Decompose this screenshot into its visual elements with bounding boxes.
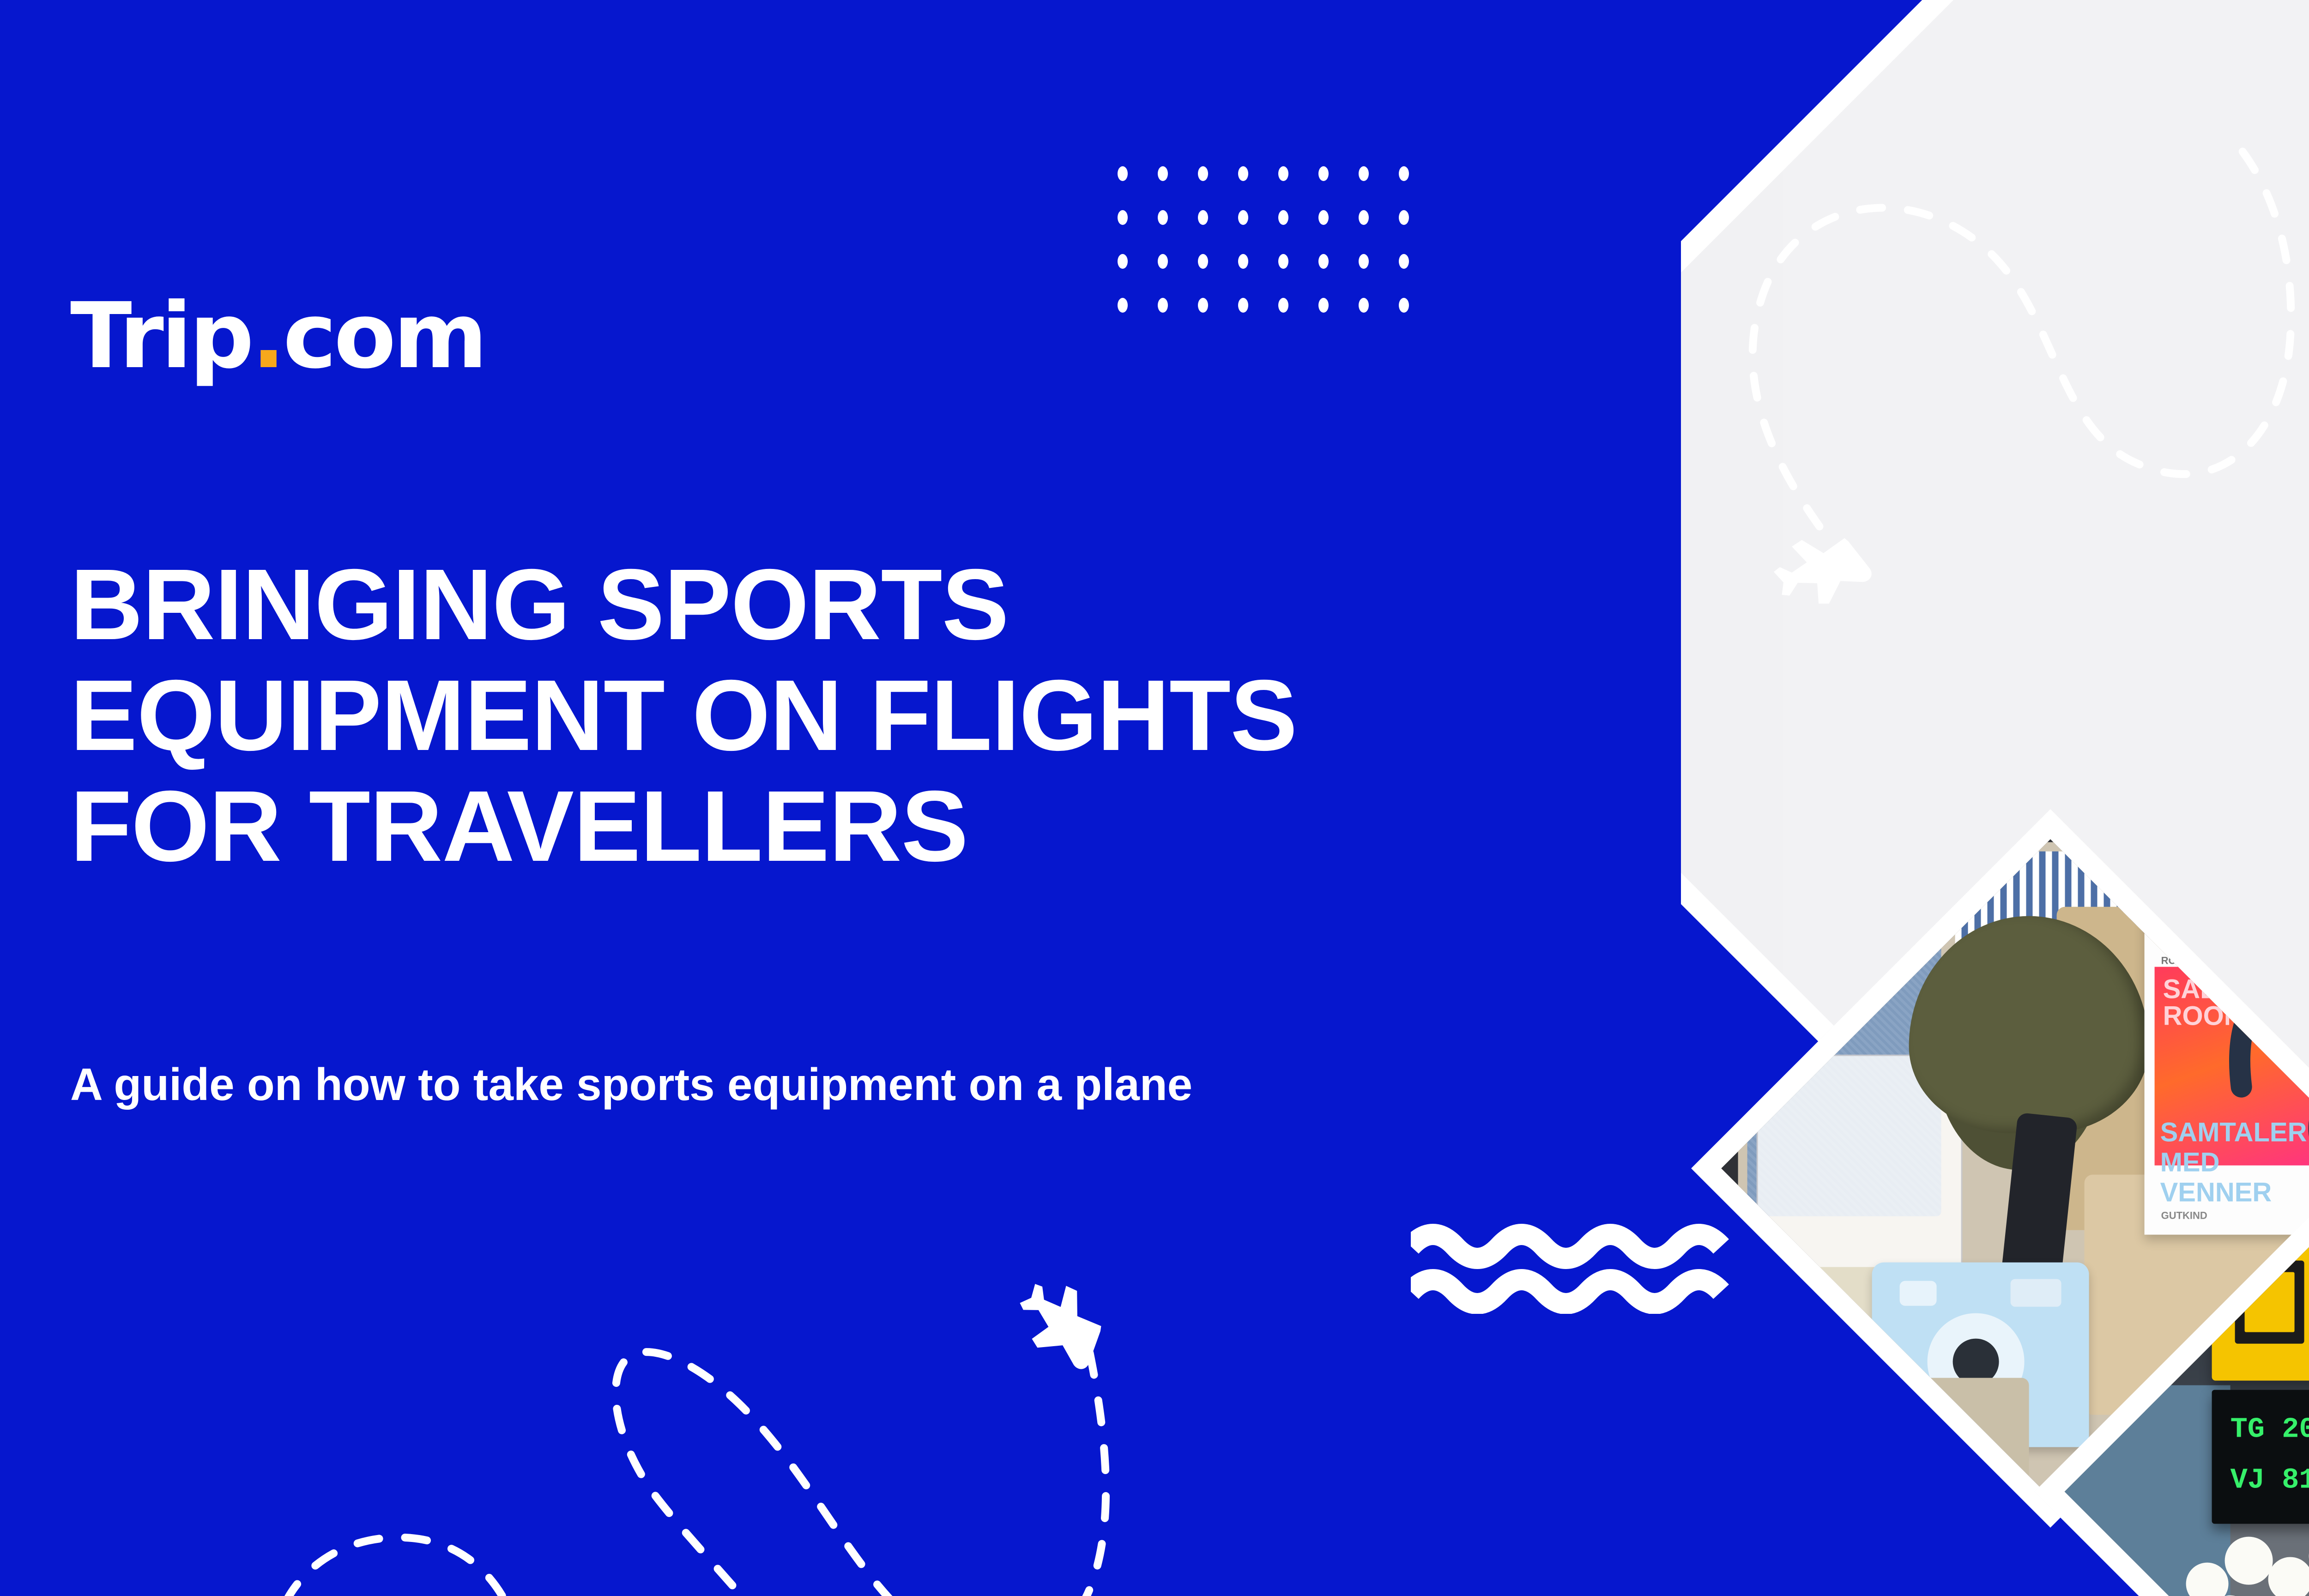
- book-kind: ROMAN: [2161, 956, 2200, 966]
- banner-root: SALLY ROONEY SAMTALER MED VENNER ROMAN G…: [0, 0, 2309, 1596]
- page-title: BRINGING SPORTS EQUIPMENT ON FLIGHTS FOR…: [70, 550, 1733, 882]
- headline-line-3: FOR TRAVELLERS: [70, 771, 1733, 882]
- wave-decoration: [1411, 1221, 1762, 1314]
- board-row2-flight: VJ 8101: [2230, 1464, 2309, 1497]
- flight-path-top: [1704, 139, 2304, 623]
- flight-information-board: TG 2011 UDON THANI OPEN VJ 8101 CHIANG M…: [2212, 1390, 2309, 1524]
- logo-suffix: com: [283, 284, 485, 389]
- dot-grid-decoration: [1118, 166, 1409, 342]
- logo-text: Trip: [70, 284, 251, 389]
- flight-path-corner: [259, 1510, 582, 1596]
- logo[interactable]: Trip.com: [70, 291, 485, 381]
- airplane-icon: [1004, 1267, 1120, 1381]
- airplane-icon: [1767, 524, 1876, 616]
- page-subtitle: A guide on how to take sports equipment …: [70, 1058, 1825, 1112]
- logo-dot: .: [251, 284, 283, 389]
- headline-line-1: BRINGING SPORTS: [70, 550, 1733, 660]
- board-row1-flight: TG 2011: [2230, 1413, 2309, 1446]
- flight-path-bottom: [600, 1201, 1293, 1596]
- orchid-flowers: [2170, 1505, 2309, 1596]
- headline-line-2: EQUIPMENT ON FLIGHTS: [70, 660, 1733, 771]
